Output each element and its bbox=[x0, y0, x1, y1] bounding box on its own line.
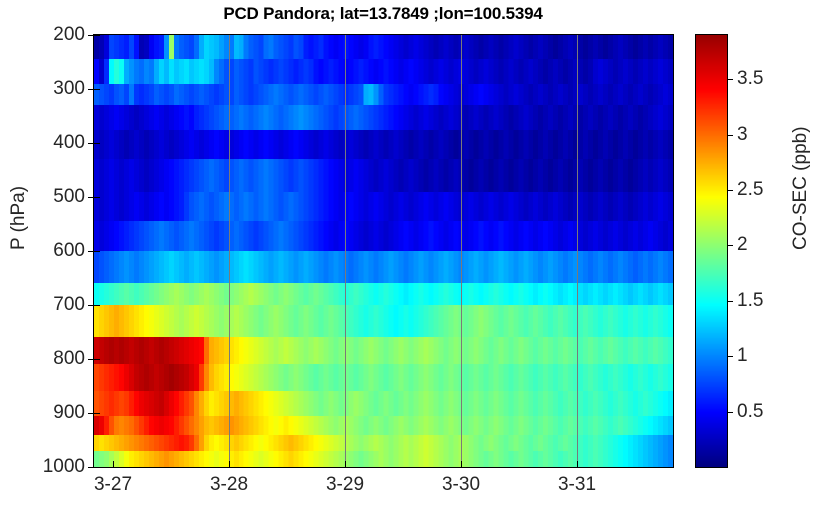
colorbar-tick-label: 2 bbox=[737, 234, 748, 256]
colorbar-tick bbox=[727, 301, 733, 302]
y-axis-tick bbox=[94, 143, 100, 144]
y-axis-tick bbox=[94, 467, 100, 468]
colorbar-tick-label: 2.5 bbox=[737, 179, 763, 201]
y-axis-tick-label: 900 bbox=[53, 402, 85, 424]
colorbar-tick bbox=[727, 135, 733, 136]
colorbar-tick bbox=[727, 356, 733, 357]
colorbar-tick bbox=[727, 79, 733, 80]
y-axis-tick bbox=[94, 413, 100, 414]
x-axis-tick-label: 3-29 bbox=[326, 474, 364, 496]
x-axis-tick bbox=[461, 461, 462, 467]
y-axis-title: P (hPa) bbox=[8, 186, 30, 250]
x-axis-tick bbox=[229, 461, 230, 467]
x-axis-tick-label: 3-31 bbox=[558, 474, 596, 496]
x-axis-tick-label: 3-27 bbox=[94, 474, 132, 496]
y-axis-tick-label: 1000 bbox=[43, 456, 85, 478]
y-axis-tick bbox=[94, 35, 100, 36]
colorbar: 0.511.522.533.5 bbox=[695, 34, 728, 468]
figure-container: PCD Pandora; lat=13.7849 ;lon=100.5394 2… bbox=[0, 0, 833, 521]
y-axis-tick-label: 700 bbox=[53, 294, 85, 316]
colorbar-tick-label: 1 bbox=[737, 345, 748, 367]
page-title: PCD Pandora; lat=13.7849 ;lon=100.5394 bbox=[93, 4, 673, 24]
y-axis-tick-label: 800 bbox=[53, 348, 85, 370]
vertical-gridline bbox=[345, 35, 346, 467]
heatmap-canvas bbox=[94, 35, 673, 467]
colorbar-tick bbox=[727, 190, 733, 191]
colorbar-tick-label: 3.5 bbox=[737, 68, 763, 90]
y-axis-tick-label: 400 bbox=[53, 132, 85, 154]
x-axis-tick bbox=[345, 461, 346, 467]
x-axis-tick bbox=[577, 461, 578, 467]
colorbar-title: CO-SEC (ppb) bbox=[790, 126, 812, 250]
y-axis-tick-label: 500 bbox=[53, 186, 85, 208]
y-axis-tick bbox=[94, 359, 100, 360]
colorbar-canvas bbox=[696, 35, 727, 467]
y-axis-tick-label: 300 bbox=[53, 78, 85, 100]
x-axis-tick-label: 3-30 bbox=[442, 474, 480, 496]
y-axis-tick bbox=[94, 197, 100, 198]
vertical-gridline bbox=[461, 35, 462, 467]
colorbar-tick bbox=[727, 412, 733, 413]
y-axis-tick-label: 200 bbox=[53, 24, 85, 46]
x-axis-tick bbox=[113, 461, 114, 467]
colorbar-tick-label: 3 bbox=[737, 124, 748, 146]
y-axis-tick bbox=[94, 89, 100, 90]
y-axis-tick-label: 600 bbox=[53, 240, 85, 262]
heatmap-axes: 2003004005006007008009001000 3-273-283-2… bbox=[93, 34, 674, 468]
colorbar-tick bbox=[727, 245, 733, 246]
vertical-gridline bbox=[577, 35, 578, 467]
colorbar-tick-label: 1.5 bbox=[737, 290, 763, 312]
x-axis-tick-label: 3-28 bbox=[210, 474, 248, 496]
vertical-gridline bbox=[229, 35, 230, 467]
colorbar-tick-label: 0.5 bbox=[737, 401, 763, 423]
y-axis-tick bbox=[94, 251, 100, 252]
y-axis-tick bbox=[94, 305, 100, 306]
